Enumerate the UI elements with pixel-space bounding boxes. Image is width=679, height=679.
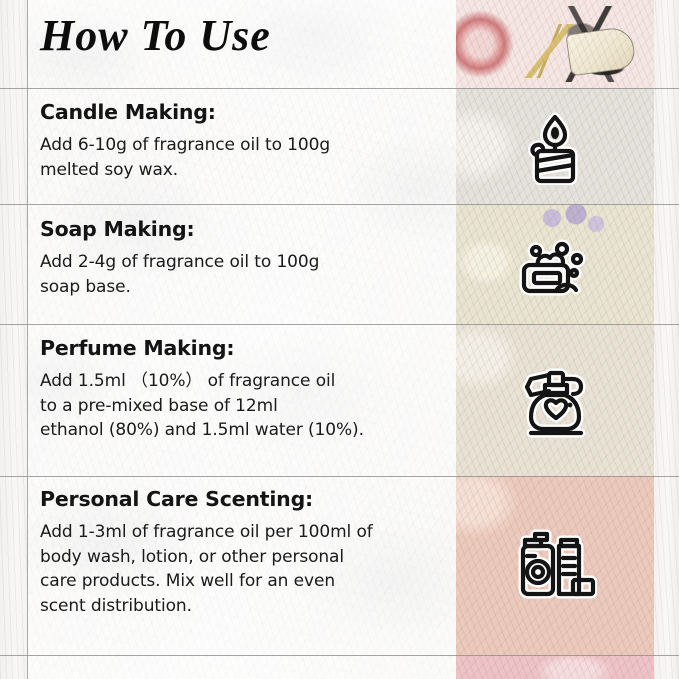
- page-title: How To Use: [40, 14, 271, 58]
- soap-bar-icon: [456, 228, 654, 308]
- text-content: How To Use Candle Making: Add 6-10g of f…: [0, 0, 456, 679]
- section-title-personal-care-scenting: Personal Care Scenting:: [40, 487, 446, 511]
- perfume-bottle-icon: [456, 360, 654, 446]
- section-perfume-making: Perfume Making: Add 1.5ml （10%） of fragr…: [40, 336, 446, 443]
- right-paper-edge: [654, 0, 679, 679]
- section-title-soap-making: Soap Making:: [40, 217, 446, 241]
- photo-band-roses: [456, 0, 654, 88]
- section-soap-making: Soap Making: Add 2-4g of fragrance oil t…: [40, 217, 446, 299]
- section-personal-care-scenting: Personal Care Scenting: Add 1-3ml of fra…: [40, 487, 446, 619]
- photo-band-bottom: [456, 655, 654, 679]
- candle-icon: [456, 108, 654, 188]
- personal-care-products-icon: [456, 516, 654, 608]
- section-title-candle-making: Candle Making:: [40, 100, 446, 124]
- section-body-candle-making: Add 6-10g of fragrance oil to 100g melte…: [40, 133, 446, 182]
- section-body-personal-care-scenting: Add 1-3ml of fragrance oil per 100ml of …: [40, 520, 446, 619]
- section-candle-making: Candle Making: Add 6-10g of fragrance oi…: [40, 100, 446, 182]
- section-body-soap-making: Add 2-4g of fragrance oil to 100g soap b…: [40, 250, 446, 299]
- section-body-perfume-making: Add 1.5ml （10%） of fragrance oil to a pr…: [40, 369, 446, 443]
- photo-column: [456, 0, 654, 679]
- how-to-use-infographic: How To Use Candle Making: Add 6-10g of f…: [0, 0, 679, 679]
- section-title-perfume-making: Perfume Making:: [40, 336, 446, 360]
